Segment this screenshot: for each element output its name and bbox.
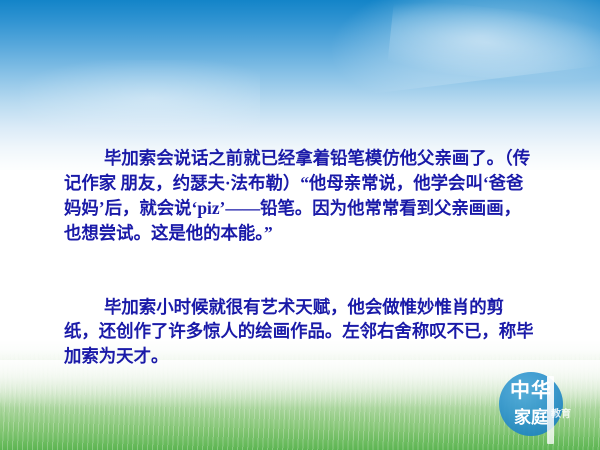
slide-body-text: 毕加索会说话之前就已经拿着铅笔模仿他父亲画了。（传记作家 朋友，约瑟夫·法布勒）… — [64, 97, 538, 418]
watermark-side-text: 教育 — [551, 410, 573, 430]
paragraph-1-text: 毕加索会说话之前就已经拿着铅笔模仿他父亲画了。（传记作家 朋友，约瑟夫·法布勒）… — [64, 148, 530, 242]
presentation-slide: 毕加索会说话之前就已经拿着铅笔模仿他父亲画了。（传记作家 朋友，约瑟夫·法布勒）… — [0, 0, 600, 450]
paragraph-2: 毕加索小时候就很有艺术天赋，他会做惟妙惟肖的剪纸，还创作了许多惊人的绘画作品。左… — [64, 295, 538, 369]
paragraph-1: 毕加索会说话之前就已经拿着铅笔模仿他父亲画了。（传记作家 朋友，约瑟夫·法布勒）… — [64, 146, 538, 245]
watermark-top-text: 中华 — [499, 377, 563, 405]
watermark-logo: 中华 家庭 教育 — [497, 372, 573, 448]
paragraph-2-text: 毕加索小时候就很有艺术天赋，他会做惟妙惟肖的剪纸，还创作了许多惊人的绘画作品。左… — [64, 297, 534, 366]
